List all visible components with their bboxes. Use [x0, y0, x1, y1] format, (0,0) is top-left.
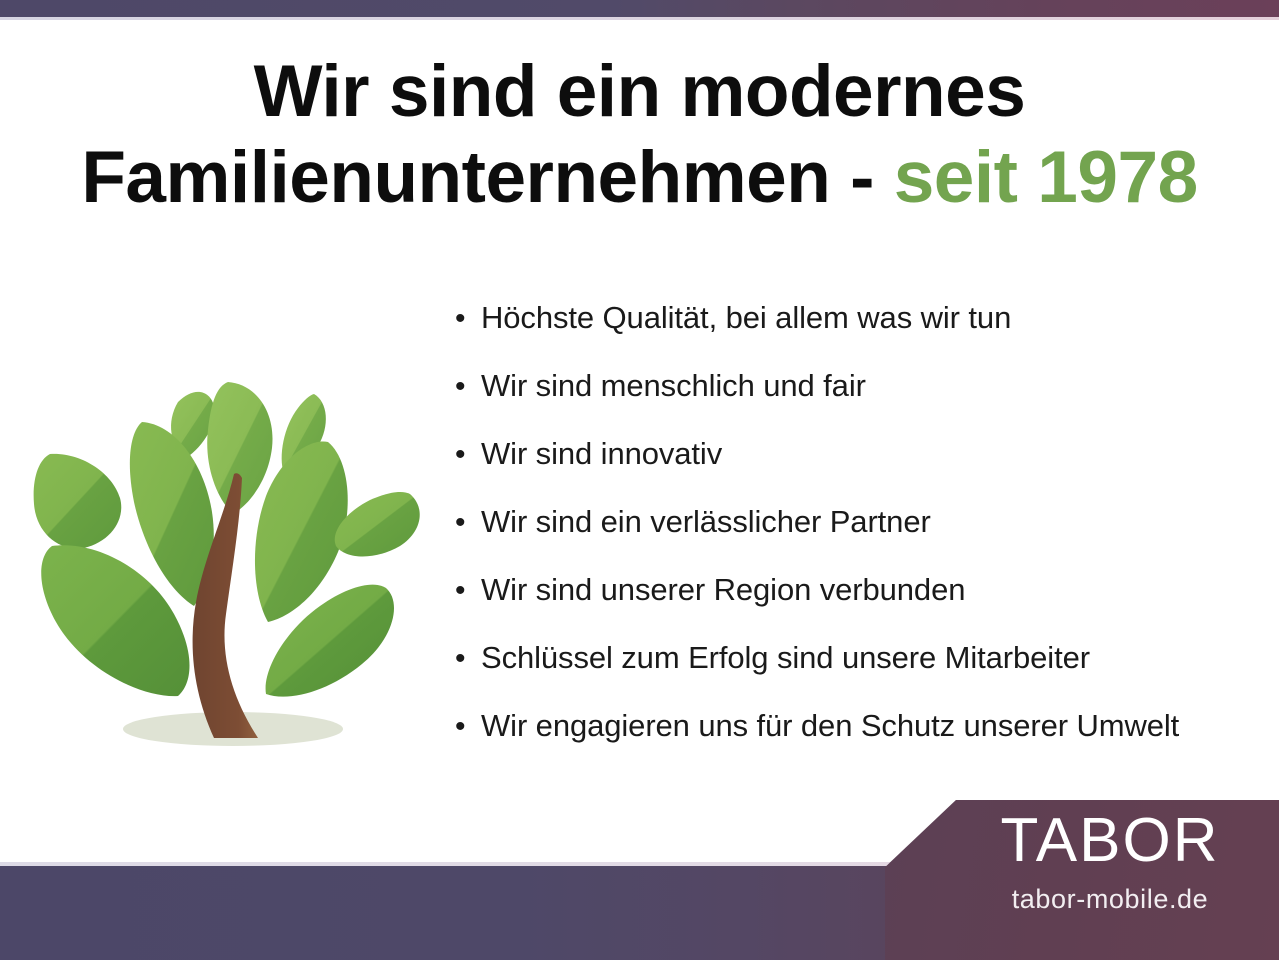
bullet-icon: •	[455, 576, 481, 606]
top-bar-hairline	[0, 17, 1279, 20]
page-title: Wir sind ein modernes Familienunternehme…	[0, 56, 1279, 213]
logo-wordmark: TABOR	[960, 810, 1260, 872]
page-title-accent: seit 1978	[894, 137, 1198, 218]
list-item-label: Wir sind unserer Region verbunden	[481, 572, 965, 608]
bullet-icon: •	[455, 304, 481, 334]
brand-logo[interactable]: TABOR tabor-mobile.de	[960, 810, 1260, 913]
tree-illustration	[18, 326, 442, 766]
list-item: • Wir sind innovativ	[455, 436, 1267, 504]
bullet-icon: •	[455, 440, 481, 470]
list-item: • Schlüssel zum Erfolg sind unsere Mitar…	[455, 640, 1267, 708]
top-accent-bar	[0, 0, 1279, 17]
slide-canvas: Wir sind ein modernes Familienunternehme…	[0, 0, 1279, 960]
list-item: • Wir sind unserer Region verbunden	[455, 572, 1267, 640]
list-item-label: Wir sind ein verlässlicher Partner	[481, 504, 931, 540]
list-item-label: Wir sind menschlich und fair	[481, 368, 866, 404]
bullet-icon: •	[455, 644, 481, 674]
page-title-line-1: Wir sind ein modernes	[0, 56, 1279, 128]
bullet-icon: •	[455, 508, 481, 538]
list-item-label: Wir engagieren uns für den Schutz unsere…	[481, 708, 1179, 744]
list-item: • Wir sind ein verlässlicher Partner	[455, 504, 1267, 572]
value-list: • Höchste Qualität, bei allem was wir tu…	[455, 300, 1267, 776]
list-item-label: Schlüssel zum Erfolg sind unsere Mitarbe…	[481, 640, 1090, 676]
list-item: • Wir sind menschlich und fair	[455, 368, 1267, 436]
bullet-icon: •	[455, 372, 481, 402]
list-item: • Wir engagieren uns für den Schutz unse…	[455, 708, 1267, 776]
page-title-line-2-plain: Familienunternehmen -	[81, 137, 893, 218]
logo-url: tabor-mobile.de	[960, 886, 1260, 913]
list-item: • Höchste Qualität, bei allem was wir tu…	[455, 300, 1267, 368]
list-item-label: Wir sind innovativ	[481, 436, 722, 472]
list-item-label: Höchste Qualität, bei allem was wir tun	[481, 300, 1011, 336]
page-title-line-2: Familienunternehmen - seit 1978	[0, 142, 1279, 214]
bullet-icon: •	[455, 712, 481, 742]
